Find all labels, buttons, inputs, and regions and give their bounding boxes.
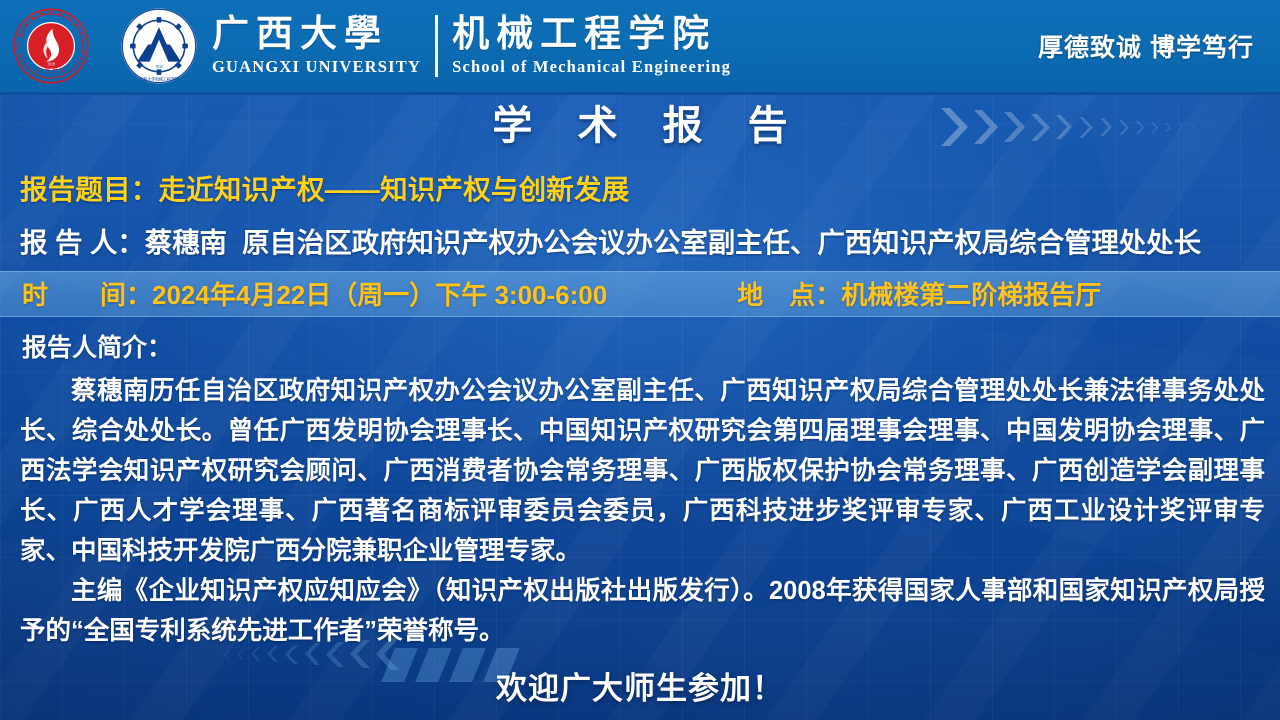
lecture-speaker-name: 蔡穗南 [145, 227, 227, 258]
lecture-time: 时 间：2024年4月22日（周一）下午 3:00-6:00 [22, 275, 607, 312]
lecture-speaker-title: 原自治区政府知识产权办公会议办公室副主任、广西知识产权局综合管理处处长 [242, 227, 1201, 258]
lecture-speaker-line: 报 告 人：蔡穗南 原自治区政府知识产权办公会议办公室副主任、广西知识产权局综合… [20, 220, 1270, 260]
svg-text:1928: 1928 [47, 63, 55, 67]
university-motto: 厚德致诚 博学笃行 [1038, 28, 1264, 64]
university-name-en: GUANGXI UNIVERSITY [212, 57, 421, 77]
time-place-content: 时 间：2024年4月22日（周一）下午 3:00-6:00 地 点：机械楼第二… [0, 271, 1280, 315]
lecture-speaker-label: 报 告 人： [20, 227, 145, 258]
lecture-topic-line: 报告题目：走近知识产权——知识产权与创新发展 [20, 167, 1260, 207]
school-name-block: 广西大學 GUANGXI UNIVERSITY 机械工程学院 School of… [212, 15, 731, 77]
lecture-topic-label: 报告题目： [20, 174, 159, 205]
page-title: 学 术 报 告 [0, 100, 1280, 152]
svg-text:广西大学机械工程学院: 广西大学机械工程学院 [140, 76, 179, 81]
speaker-bio-paragraph-2: 主编《企业知识产权应知应会》（知识产权出版社出版发行）。2008年获得国家人事部… [20, 571, 1265, 651]
lecture-time-value: 2024年4月22日（周一）下午 3:00-6:00 [152, 280, 607, 310]
lecture-place-label: 地 点： [737, 280, 841, 310]
college-name-en: School of Mechanical Engineering [452, 57, 731, 77]
welcome-message: 欢迎广大师生参加！ [0, 663, 1280, 708]
lecture-topic-value: 走近知识产权——知识产权与创新发展 [159, 174, 630, 205]
name-divider [435, 15, 438, 77]
speaker-bio-heading: 报告人简介： [22, 328, 172, 364]
lecture-place-value: 机械楼第二阶梯报告厅 [841, 280, 1101, 310]
svg-text:1932: 1932 [155, 65, 163, 69]
lecture-place: 地 点：机械楼第二阶梯报告厅 [737, 275, 1101, 312]
university-name-cn: 广西大學 [212, 15, 421, 54]
guangxi-university-seal-icon: 广 西 大 学 1928 [12, 7, 90, 85]
college-name-block: 机械工程学院 School of Mechanical Engineering [452, 15, 731, 76]
college-name-cn: 机械工程学院 [452, 15, 731, 54]
speaker-bio-paragraph-1: 蔡穗南历任自治区政府知识产权办公会议办公室副主任、广西知识产权局综合管理处处长兼… [20, 371, 1265, 571]
header-band: 广 西 大 学 1928 [0, 0, 1280, 95]
university-name-block: 广西大學 GUANGXI UNIVERSITY [212, 15, 421, 76]
academic-lecture-poster: 广 西 大 学 1928 [0, 0, 1280, 720]
speaker-bio-body: 蔡穗南历任自治区政府知识产权办公会议办公室副主任、广西知识产权局综合管理处处长兼… [20, 371, 1265, 651]
school-of-mechanical-engineering-icon: 1932 广西大学机械工程学院 [120, 7, 198, 85]
lecture-time-label: 时 间： [22, 280, 152, 310]
